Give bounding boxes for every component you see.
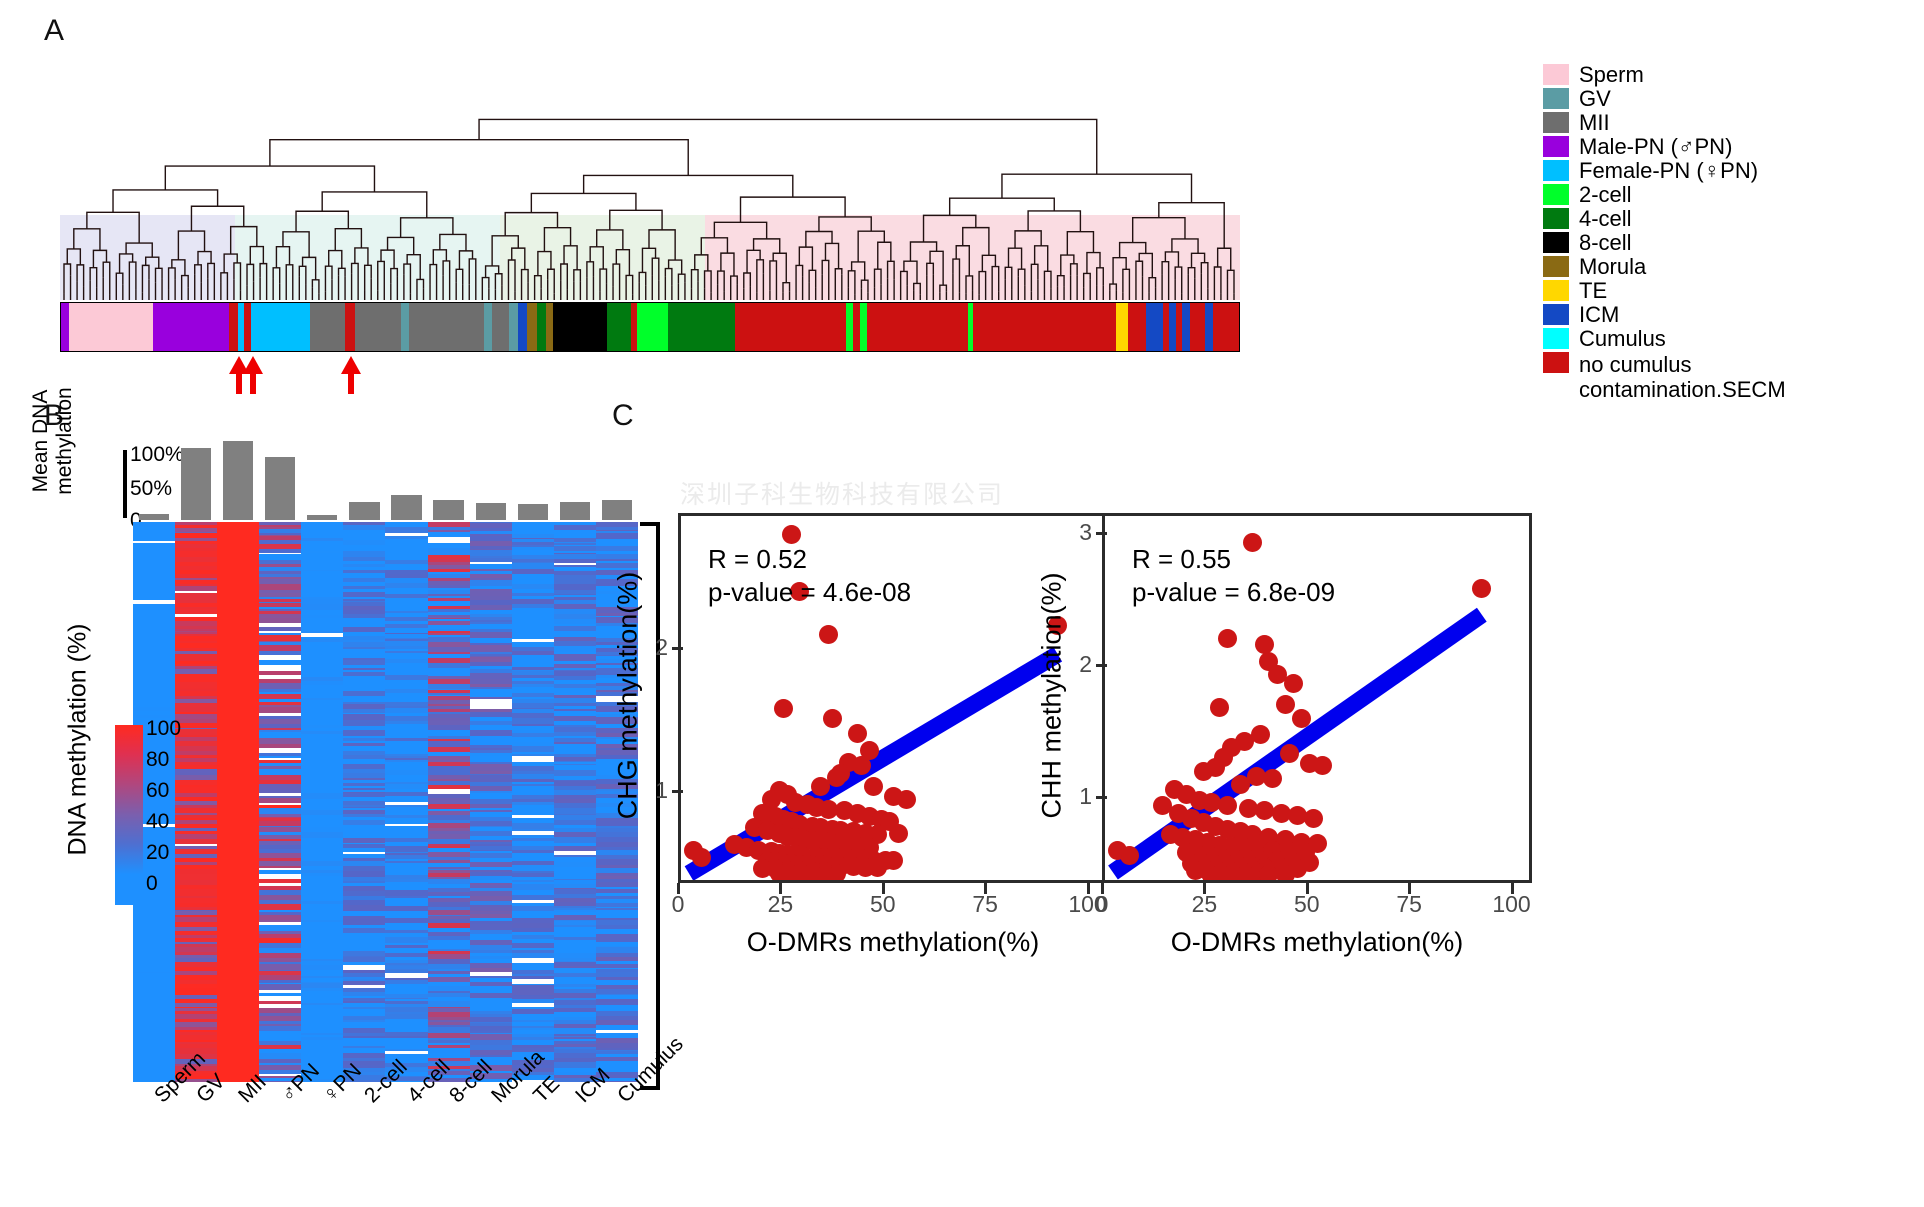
legend-item-11: Cumulus <box>1543 328 1903 351</box>
scatter-point <box>1276 865 1295 883</box>
annotation-segment-11 <box>409 303 484 351</box>
annotation-segment-33 <box>1146 303 1163 351</box>
x-tick-label: 75 <box>955 891 1015 918</box>
x-axis-title: O-DMRs methylation(%) <box>1102 927 1532 958</box>
scatter-point <box>823 709 842 728</box>
heatmap-column-4-cell <box>385 522 427 1082</box>
legend: SpermGVMIIMale-PN (♂PN)Female-PN (♀PN)2-… <box>1543 64 1903 403</box>
odmr-heatmap <box>133 522 638 1082</box>
annotation-segment-0 <box>61 303 69 351</box>
legend-swatch-icon <box>1543 160 1569 181</box>
x-tick-label: 0 <box>648 891 708 918</box>
dendro-link <box>322 192 427 218</box>
legend-item-0: Sperm <box>1543 64 1903 87</box>
x-tick-label: 25 <box>750 891 810 918</box>
colorbar-tick-1: 80 <box>146 748 169 772</box>
scatter-point <box>811 777 830 796</box>
bar-♂PN <box>265 457 295 520</box>
bar-TE <box>518 504 548 520</box>
scatter-point <box>692 848 711 867</box>
watermark: 深圳子科生物科技有限公司 <box>680 475 1004 511</box>
y-axis-title: CHH methylation(%) <box>1037 496 1068 896</box>
annotation-segment-40 <box>1213 303 1239 351</box>
bar-Morula <box>476 503 506 520</box>
scatter-point <box>1239 867 1258 883</box>
legend-label: Male-PN (♂PN) <box>1579 136 1732 157</box>
bar-8-cell <box>433 500 463 520</box>
mean-methylation-barchart <box>133 428 638 520</box>
bar-cell-10 <box>554 428 596 520</box>
y-tick-mark <box>672 647 683 650</box>
x-tick-mark <box>677 883 680 894</box>
dendro-cluster-band-2 <box>500 215 705 300</box>
legend-swatch-icon <box>1543 280 1569 301</box>
bar-ICM <box>560 502 590 520</box>
bar-4-cell <box>391 495 421 520</box>
legend-label: Female-PN (♀PN) <box>1579 160 1758 181</box>
scatter-point <box>1255 635 1274 654</box>
legend-item-1: GV <box>1543 88 1903 111</box>
annotation-segment-10 <box>401 303 409 351</box>
annotation-segment-39 <box>1205 303 1212 351</box>
bar-cell-2 <box>217 428 259 520</box>
scatter-point <box>839 827 858 846</box>
scatter-point <box>1231 775 1250 794</box>
scatter-point <box>1218 796 1237 815</box>
legend-label: 8-cell <box>1579 232 1632 253</box>
panel-b: B Mean DNA methylation 100%50%0 DNA meth… <box>0 395 660 1207</box>
mean-axis-line <box>123 450 127 518</box>
heatmap-column-♀PN <box>301 522 343 1082</box>
annotation-segment-9 <box>355 303 402 351</box>
x-tick-label: 100 <box>1482 891 1542 918</box>
annotation-segment-22 <box>637 303 668 351</box>
legend-item-10: ICM <box>1543 304 1903 327</box>
annotation-segment-24 <box>735 303 847 351</box>
scatter-point <box>1304 809 1323 828</box>
scatter-point <box>897 790 916 809</box>
annotation-segment-6 <box>251 303 310 351</box>
correlation-stats: R = 0.52 p-value = 4.6e-08 <box>708 543 911 609</box>
scatter-point <box>1263 769 1282 788</box>
panel-c-letter: C <box>612 399 634 433</box>
legend-item-8: Morula <box>1543 256 1903 279</box>
scatter-point <box>864 777 883 796</box>
dendro-link <box>270 140 688 176</box>
y-axis-title: CHG methylation(%) <box>613 496 644 896</box>
legend-swatch-icon <box>1543 64 1569 85</box>
bar-cell-1 <box>175 428 217 520</box>
legend-label: MII <box>1579 112 1610 133</box>
heatmap-column-Morula <box>470 522 512 1082</box>
up-arrow-shaft-0 <box>236 372 242 394</box>
legend-item-3: Male-PN (♂PN) <box>1543 136 1903 159</box>
legend-swatch-icon <box>1543 352 1569 373</box>
bar-cell-4 <box>301 428 343 520</box>
dna-methylation-axis-label: DNA methylation (%) <box>64 550 93 930</box>
x-tick-label: 75 <box>1379 891 1439 918</box>
annotation-segment-37 <box>1182 303 1190 351</box>
up-arrow-head-icon-2 <box>341 356 361 374</box>
x-tick-mark <box>1511 883 1514 894</box>
scatter-point <box>782 525 801 544</box>
legend-swatch-icon <box>1543 328 1569 349</box>
legend-item-2: MII <box>1543 112 1903 135</box>
annotation-segment-30 <box>973 303 1116 351</box>
bar-MII <box>223 441 253 520</box>
scatter-point <box>1276 695 1295 714</box>
scatter-point <box>1313 756 1332 775</box>
annotation-segment-28 <box>867 303 968 351</box>
bar-cell-7 <box>428 428 470 520</box>
annotation-segment-2 <box>153 303 228 351</box>
annotation-segment-35 <box>1169 303 1176 351</box>
legend-label: Cumulus <box>1579 328 1666 349</box>
legend-label: ICM <box>1579 304 1619 325</box>
heatmap-column-TE <box>512 522 554 1082</box>
panel-a-letter: A <box>44 14 64 48</box>
y-tick-mark <box>672 790 683 793</box>
colorbar-tick-2: 60 <box>146 779 169 803</box>
legend-swatch-icon <box>1543 184 1569 205</box>
legend-item-4: Female-PN (♀PN) <box>1543 160 1903 183</box>
legend-item-9: TE <box>1543 280 1903 303</box>
x-tick-mark <box>1203 883 1206 894</box>
x-tick-label: 50 <box>853 891 913 918</box>
annotation-segment-8 <box>345 303 354 351</box>
annotation-segment-15 <box>518 303 526 351</box>
sample-annotation-bar <box>60 302 1240 352</box>
legend-label: Morula <box>1579 256 1646 277</box>
mean-methylation-axis-label: Mean DNA methylation <box>29 376 77 506</box>
dendrogram <box>60 60 1240 300</box>
correlation-stats: R = 0.55 p-value = 6.8e-09 <box>1132 543 1335 609</box>
bar-cell-6 <box>385 428 427 520</box>
scatter-point <box>1251 725 1270 744</box>
x-tick-label: 25 <box>1174 891 1234 918</box>
scatter-point <box>774 699 793 718</box>
dendro-link <box>479 119 1097 174</box>
scatter-point <box>819 625 838 644</box>
x-tick-mark <box>984 883 987 894</box>
annotation-segment-17 <box>537 303 546 351</box>
x-tick-mark <box>1101 883 1104 894</box>
annotation-segment-7 <box>310 303 345 351</box>
annotation-segment-12 <box>484 303 492 351</box>
legend-swatch-icon <box>1543 304 1569 325</box>
x-axis-title: O-DMRs methylation(%) <box>678 927 1108 958</box>
annotation-segment-19 <box>553 303 607 351</box>
up-arrow-head-icon-1 <box>243 356 263 374</box>
annotation-segment-13 <box>492 303 509 351</box>
legend-item-5: 2-cell <box>1543 184 1903 207</box>
colorbar-tick-5: 0 <box>146 872 158 896</box>
x-tick-mark <box>1408 883 1411 894</box>
x-tick-mark <box>1306 883 1309 894</box>
annotation-segment-5 <box>244 303 251 351</box>
annotation-segment-16 <box>527 303 537 351</box>
bar-cell-3 <box>259 428 301 520</box>
legend-swatch-icon <box>1543 232 1569 253</box>
annotation-segment-3 <box>229 303 238 351</box>
y-tick-mark <box>1096 664 1107 667</box>
scatter-point <box>819 867 838 883</box>
colorbar-tick-0: 100 <box>146 717 181 741</box>
y-tick-mark <box>1096 796 1107 799</box>
legend-item-7: 8-cell <box>1543 232 1903 255</box>
legend-swatch-icon <box>1543 208 1569 229</box>
dendro-link <box>113 190 218 212</box>
legend-label: 4-cell <box>1579 208 1632 229</box>
legend-swatch-icon <box>1543 88 1569 109</box>
dendro-link <box>950 198 1055 215</box>
legend-item-6: 4-cell <box>1543 208 1903 231</box>
up-arrow-shaft-1 <box>250 372 256 394</box>
panel-a: A SpermGVMIIMale-PN (♂PN)Female-PN (♀PN)… <box>0 0 1924 400</box>
scatter-point <box>848 724 867 743</box>
bar-cell-9 <box>512 428 554 520</box>
scatter-point <box>1292 709 1311 728</box>
scatter-point <box>868 858 887 877</box>
dendro-link <box>165 166 374 192</box>
bar-GV <box>181 448 211 520</box>
up-arrow-shaft-2 <box>348 372 354 394</box>
legend-swatch-icon <box>1543 112 1569 133</box>
legend-label: TE <box>1579 280 1607 301</box>
scatter-point <box>1218 629 1237 648</box>
dendrogram-svg <box>60 60 1240 300</box>
heatmap-column-GV <box>175 522 217 1082</box>
annotation-segment-38 <box>1190 303 1205 351</box>
panel-c: C 深圳子科生物科技有限公司 R = 0.52 p-value = 4.6e-0… <box>600 395 1924 1207</box>
annotation-segment-14 <box>509 303 518 351</box>
colorbar <box>115 725 143 905</box>
scatter-point <box>884 851 903 870</box>
annotation-segment-20 <box>607 303 631 351</box>
legend-swatch-icon <box>1543 136 1569 157</box>
x-tick-label: 0 <box>1072 891 1132 918</box>
bar-cell-0 <box>133 428 175 520</box>
scatter-point <box>1280 744 1299 763</box>
annotation-segment-1 <box>69 303 153 351</box>
bar-2-cell <box>349 502 379 520</box>
scatter-point <box>1210 698 1229 717</box>
scatter-point <box>1472 579 1491 598</box>
heatmap-column-8-cell <box>428 522 470 1082</box>
legend-label: Sperm <box>1579 64 1644 85</box>
annotation-segment-31 <box>1116 303 1128 351</box>
annotation-segment-23 <box>668 303 735 351</box>
bar-Sperm <box>139 514 169 520</box>
scatter-point <box>852 756 871 775</box>
colorbar-tick-4: 20 <box>146 841 169 865</box>
scatter-point <box>1194 762 1213 781</box>
legend-label: 2-cell <box>1579 184 1632 205</box>
scatter-point <box>1284 674 1303 693</box>
legend-swatch-icon <box>1543 256 1569 277</box>
heatmap-column-ICM <box>554 522 596 1082</box>
colorbar-tick-3: 40 <box>146 810 169 834</box>
scatter-point <box>889 824 908 843</box>
heatmap-column-MII <box>217 522 259 1082</box>
x-tick-mark <box>779 883 782 894</box>
annotation-segment-32 <box>1128 303 1147 351</box>
annotation-segment-26 <box>853 303 860 351</box>
bar-cell-8 <box>470 428 512 520</box>
x-tick-label: 50 <box>1277 891 1337 918</box>
heatmap-column-♂PN <box>259 522 301 1082</box>
y-tick-mark <box>1096 532 1107 535</box>
x-tick-mark <box>882 883 885 894</box>
legend-label: GV <box>1579 88 1611 109</box>
bar-♀PN <box>307 515 337 520</box>
bar-cell-5 <box>343 428 385 520</box>
heatmap-column-2-cell <box>343 522 385 1082</box>
